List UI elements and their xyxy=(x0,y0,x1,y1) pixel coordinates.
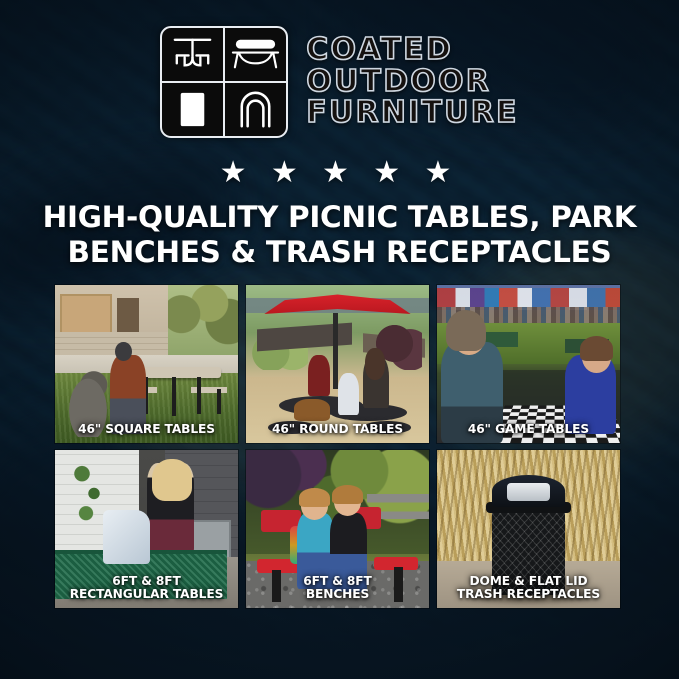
product-tile-trash-receptacles[interactable]: DOME & FLAT LID TRASH RECEPTACLES xyxy=(437,450,620,608)
product-tile-rectangular-tables[interactable]: 6FT & 8FT RECTANGULAR TABLES xyxy=(55,450,238,608)
brand-name-line-3: FURNITURE xyxy=(306,98,518,129)
brand-logo: COATED OUTDOOR FURNITURE xyxy=(0,26,679,138)
product-photo-square-tables xyxy=(55,285,238,443)
product-caption: 6FT & 8FT RECTANGULAR TABLES xyxy=(59,575,234,602)
headline-line-1: HIGH-QUALITY PICNIC TABLES, PARK xyxy=(34,200,645,235)
picnic-table-icon xyxy=(162,28,224,82)
product-tile-square-tables[interactable]: 46" SQUARE TABLES xyxy=(55,285,238,443)
product-tile-benches[interactable]: 6FT & 8FT BENCHES xyxy=(246,450,429,608)
promo-banner: COATED OUTDOOR FURNITURE ★ ★ ★ ★ ★ HIGH-… xyxy=(0,0,679,679)
brand-name-line-1: COATED xyxy=(306,35,518,66)
product-caption-line-2: RECTANGULAR TABLES xyxy=(59,588,234,602)
bench-icon xyxy=(224,28,286,82)
bike-rack-icon xyxy=(224,82,286,136)
headline-line-2: BENCHES & TRASH RECEPTACLES xyxy=(34,235,645,270)
page-title: HIGH-QUALITY PICNIC TABLES, PARK BENCHES… xyxy=(34,200,645,270)
product-caption-line-2: TRASH RECEPTACLES xyxy=(441,588,616,602)
product-caption: 6FT & 8FT BENCHES xyxy=(250,575,425,602)
product-caption-line-1: 46" SQUARE TABLES xyxy=(59,423,234,437)
product-caption: 46" GAME TABLES xyxy=(441,423,616,437)
product-tile-game-tables[interactable]: 46" GAME TABLES xyxy=(437,285,620,443)
product-grid: 46" SQUARE TABLES xyxy=(55,285,625,608)
logo-mark-icon xyxy=(160,26,288,138)
product-caption-line-1: 46" GAME TABLES xyxy=(441,423,616,437)
brand-name-line-2: OUTDOOR xyxy=(306,67,518,98)
product-caption: 46" SQUARE TABLES xyxy=(59,423,234,437)
product-photo-round-tables xyxy=(246,285,429,443)
product-caption-line-2: BENCHES xyxy=(250,588,425,602)
product-caption-line-1: 46" ROUND TABLES xyxy=(250,423,425,437)
star-rating: ★ ★ ★ ★ ★ xyxy=(0,158,679,188)
product-caption: 46" ROUND TABLES xyxy=(250,423,425,437)
product-tile-round-tables[interactable]: 46" ROUND TABLES xyxy=(246,285,429,443)
trash-receptacle-icon xyxy=(162,82,224,136)
product-caption: DOME & FLAT LID TRASH RECEPTACLES xyxy=(441,575,616,602)
brand-name: COATED OUTDOOR FURNITURE xyxy=(306,35,518,129)
product-photo-game-tables xyxy=(437,285,620,443)
